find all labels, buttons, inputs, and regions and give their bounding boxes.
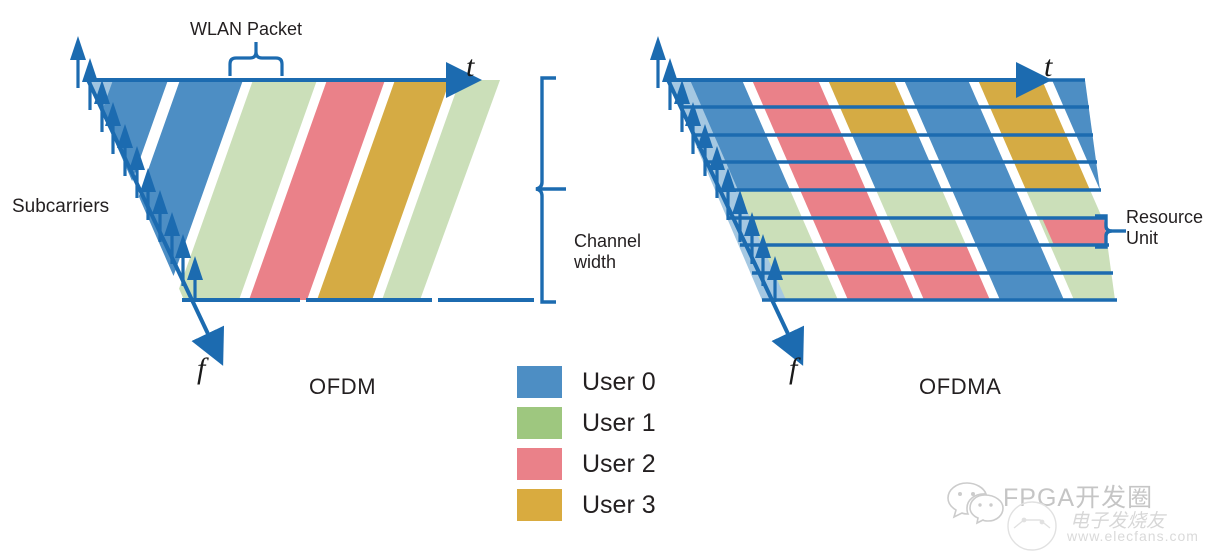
ofdma-f-axis-label: f xyxy=(789,352,797,386)
legend-item-user3: User 3 xyxy=(517,489,656,521)
watermark-url: www.elecfans.com xyxy=(1067,528,1199,544)
legend: User 0 User 1 User 2 User 3 xyxy=(517,366,656,530)
legend-item-user2: User 2 xyxy=(517,448,656,480)
resource-unit-label-line2: Unit xyxy=(1126,228,1158,249)
legend-item-user0: User 0 xyxy=(517,366,656,398)
resource-unit-label-line1: Resource xyxy=(1126,207,1203,228)
wechat-icon xyxy=(945,478,1005,526)
ofdm-title: OFDM xyxy=(309,374,376,400)
legend-item-user1: User 1 xyxy=(517,407,656,439)
chip-icon xyxy=(1000,498,1070,554)
legend-label-user3: User 3 xyxy=(582,491,656,520)
channel-width-label-line1: Channel xyxy=(574,231,641,252)
diagram-canvas: Subcarriers WLAN Packet Channel width Re… xyxy=(0,0,1220,555)
ofdma-panel xyxy=(650,36,1181,355)
legend-swatch-user3 xyxy=(517,489,562,521)
ofdm-t-axis-label: t xyxy=(466,50,474,84)
legend-label-user0: User 0 xyxy=(582,368,656,397)
subcarriers-label: Subcarriers xyxy=(12,196,109,218)
channel-width-label-line2: width xyxy=(574,252,616,273)
ofdma-title: OFDMA xyxy=(919,374,1001,400)
legend-swatch-user2 xyxy=(517,448,562,480)
legend-label-user1: User 1 xyxy=(582,409,656,438)
wlan-packet-brace xyxy=(230,52,282,76)
ofdma-t-axis-label: t xyxy=(1044,50,1052,84)
ofdm-f-axis-label: f xyxy=(197,352,205,386)
wlan-packet-label: WLAN Packet xyxy=(190,19,302,40)
watermark: FPGA开发圈 电子发烧友 www.elecfans.com xyxy=(945,470,1215,550)
ofdm-bands xyxy=(10,80,520,300)
legend-swatch-user1 xyxy=(517,407,562,439)
legend-label-user2: User 2 xyxy=(582,450,656,479)
legend-swatch-user0 xyxy=(517,366,562,398)
